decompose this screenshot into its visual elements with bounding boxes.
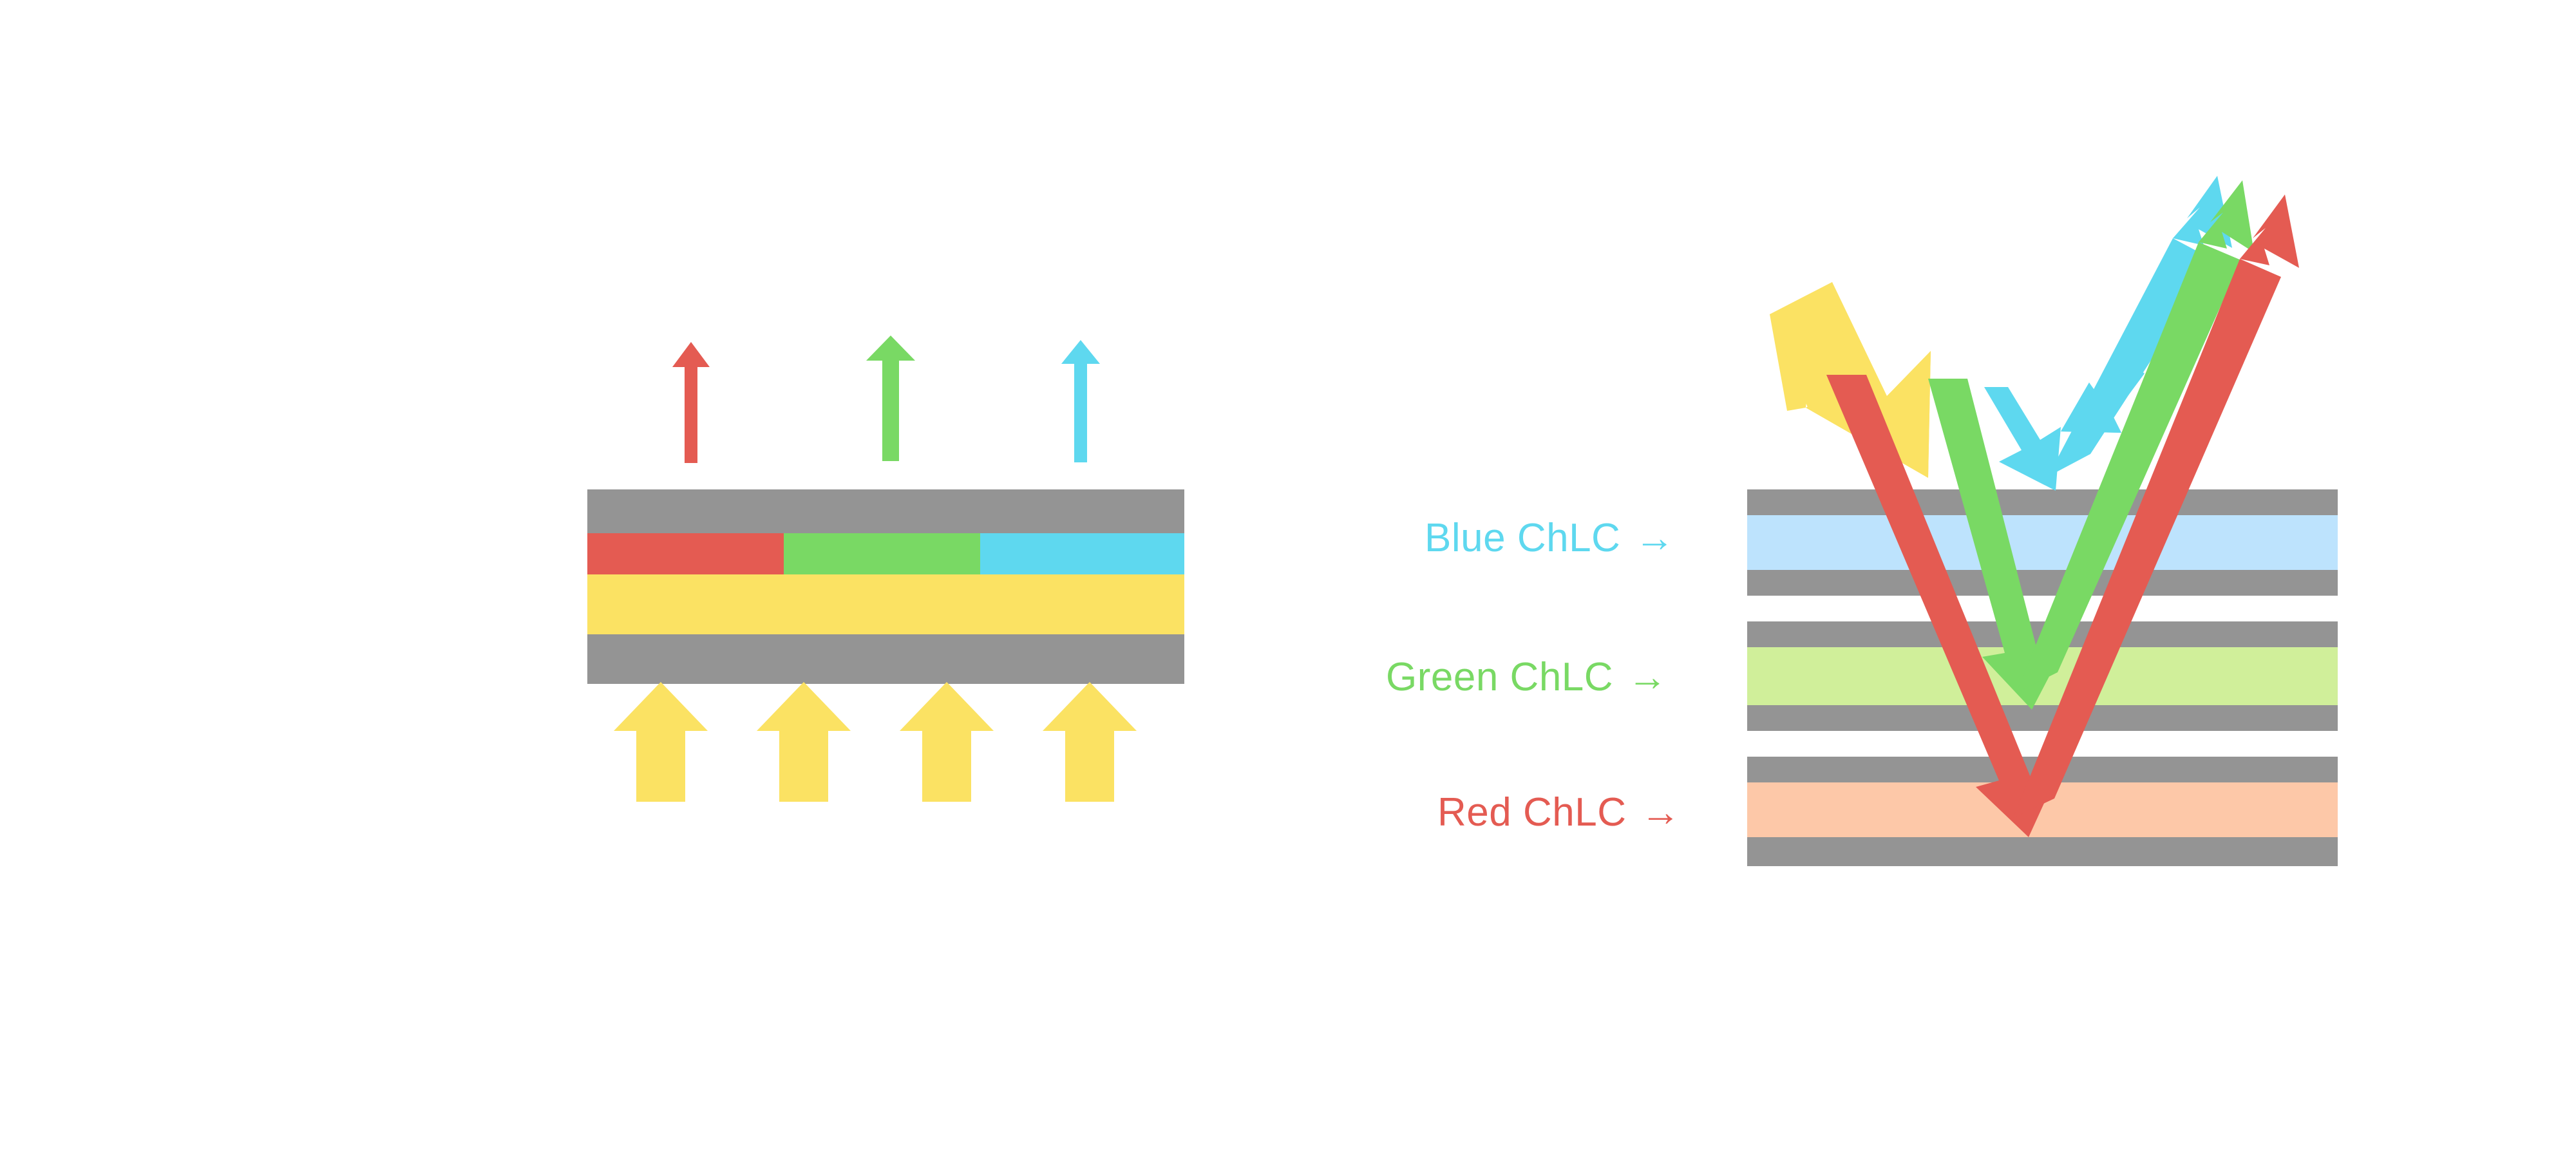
red-chlc-label-text: Red ChLC bbox=[1437, 790, 1626, 835]
green-chlc-label: Green ChLC→ bbox=[1386, 654, 1668, 700]
green-chlc-label-text: Green ChLC bbox=[1386, 655, 1613, 699]
red-chlc-label-arrow: → bbox=[1626, 790, 1681, 835]
green-chlc-label-arrow: → bbox=[1613, 655, 1668, 699]
blue-chlc-label-arrow: → bbox=[1620, 516, 1675, 560]
blue-chlc-label: Blue ChLC→ bbox=[1425, 515, 1675, 561]
red-chlc-label: Red ChLC→ bbox=[1437, 790, 1681, 835]
right-panel-rays bbox=[0, 0, 2576, 1154]
blue-chlc-label-text: Blue ChLC bbox=[1425, 516, 1620, 560]
figure-canvas: Blue ChLC→ Green ChLC→ Red ChLC→ bbox=[0, 0, 2576, 1154]
